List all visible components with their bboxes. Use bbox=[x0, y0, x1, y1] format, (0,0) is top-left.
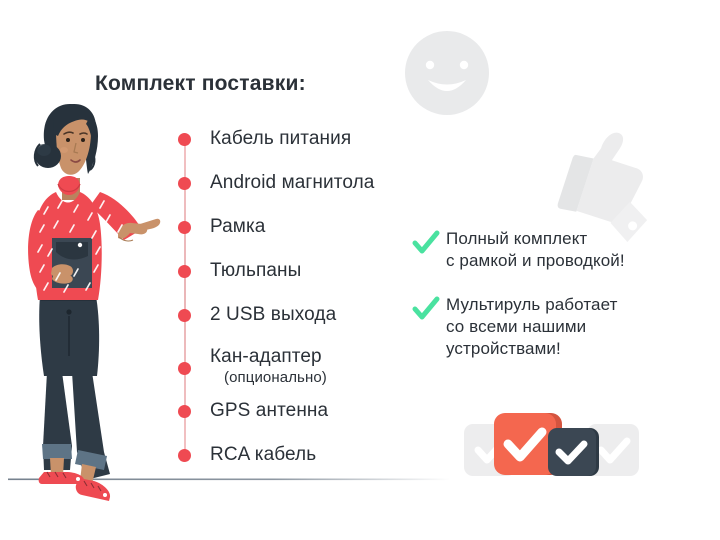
list-item-label-sub: (опционально) bbox=[224, 369, 327, 386]
checkbox-dark-icon bbox=[548, 428, 599, 476]
list-item-label: Android магнитола bbox=[210, 172, 374, 194]
bullet-dot bbox=[178, 177, 191, 190]
list-item-label: Тюльпаны bbox=[210, 260, 301, 282]
list-item: Тюльпаны bbox=[178, 260, 301, 282]
bullet-dot bbox=[178, 449, 191, 462]
benefit-item: Полный комплект с рамкой и проводкой! bbox=[412, 228, 697, 272]
green-check-icon bbox=[412, 230, 440, 256]
page-title: Комплект поставки: bbox=[95, 72, 306, 96]
bullet-dot bbox=[178, 405, 191, 418]
benefit-line: Полный комплект bbox=[446, 228, 697, 250]
bullet-dot bbox=[178, 362, 191, 375]
avito-wordmark: Avito bbox=[642, 505, 694, 528]
benefit-item: Мультируль работает со всеми нашими устр… bbox=[412, 294, 697, 360]
benefit-list: Полный комплект с рамкой и проводкой! Му… bbox=[412, 228, 697, 376]
benefit-line: Мультируль работает bbox=[446, 294, 697, 316]
woman-pointing-illustration bbox=[28, 104, 160, 501]
benefit-line: со всеми нашими bbox=[446, 316, 697, 338]
bullet-dot bbox=[178, 309, 191, 322]
list-item: Кабель питания bbox=[178, 128, 351, 150]
list-item-label-main: Кан-адаптер bbox=[210, 346, 322, 367]
list-item-label: Кан-адаптер (опционально) bbox=[210, 346, 327, 386]
smiley-face-icon bbox=[405, 31, 489, 122]
list-item-label: Рамка bbox=[210, 216, 265, 238]
benefit-text: Мультируль работает со всеми нашими устр… bbox=[446, 294, 697, 360]
list-item: Android магнитола bbox=[178, 172, 374, 194]
bullet-dot bbox=[178, 265, 191, 278]
avito-watermark: Avito bbox=[610, 502, 706, 528]
list-item-label: RCA кабель bbox=[210, 444, 316, 466]
list-item: 2 USB выхода bbox=[178, 304, 336, 326]
green-check-icon bbox=[412, 296, 440, 322]
avito-logo-icon: Avito bbox=[610, 502, 706, 528]
list-item: Рамка bbox=[178, 216, 265, 238]
list-item-label: 2 USB выхода bbox=[210, 304, 336, 326]
list-item: Кан-адаптер (опционально) bbox=[178, 346, 327, 386]
benefit-line: с рамкой и проводкой! bbox=[446, 250, 697, 272]
bullet-dot bbox=[178, 221, 191, 234]
checkbox-cluster bbox=[464, 413, 639, 476]
list-item: RCA кабель bbox=[178, 444, 316, 466]
benefit-text: Полный комплект с рамкой и проводкой! bbox=[446, 228, 697, 272]
list-item-label: Кабель питания bbox=[210, 128, 351, 150]
list-item: GPS антенна bbox=[178, 400, 328, 422]
benefit-line: устройствами! bbox=[446, 338, 697, 360]
list-item-label: GPS антенна bbox=[210, 400, 328, 422]
bullet-dot bbox=[178, 133, 191, 146]
